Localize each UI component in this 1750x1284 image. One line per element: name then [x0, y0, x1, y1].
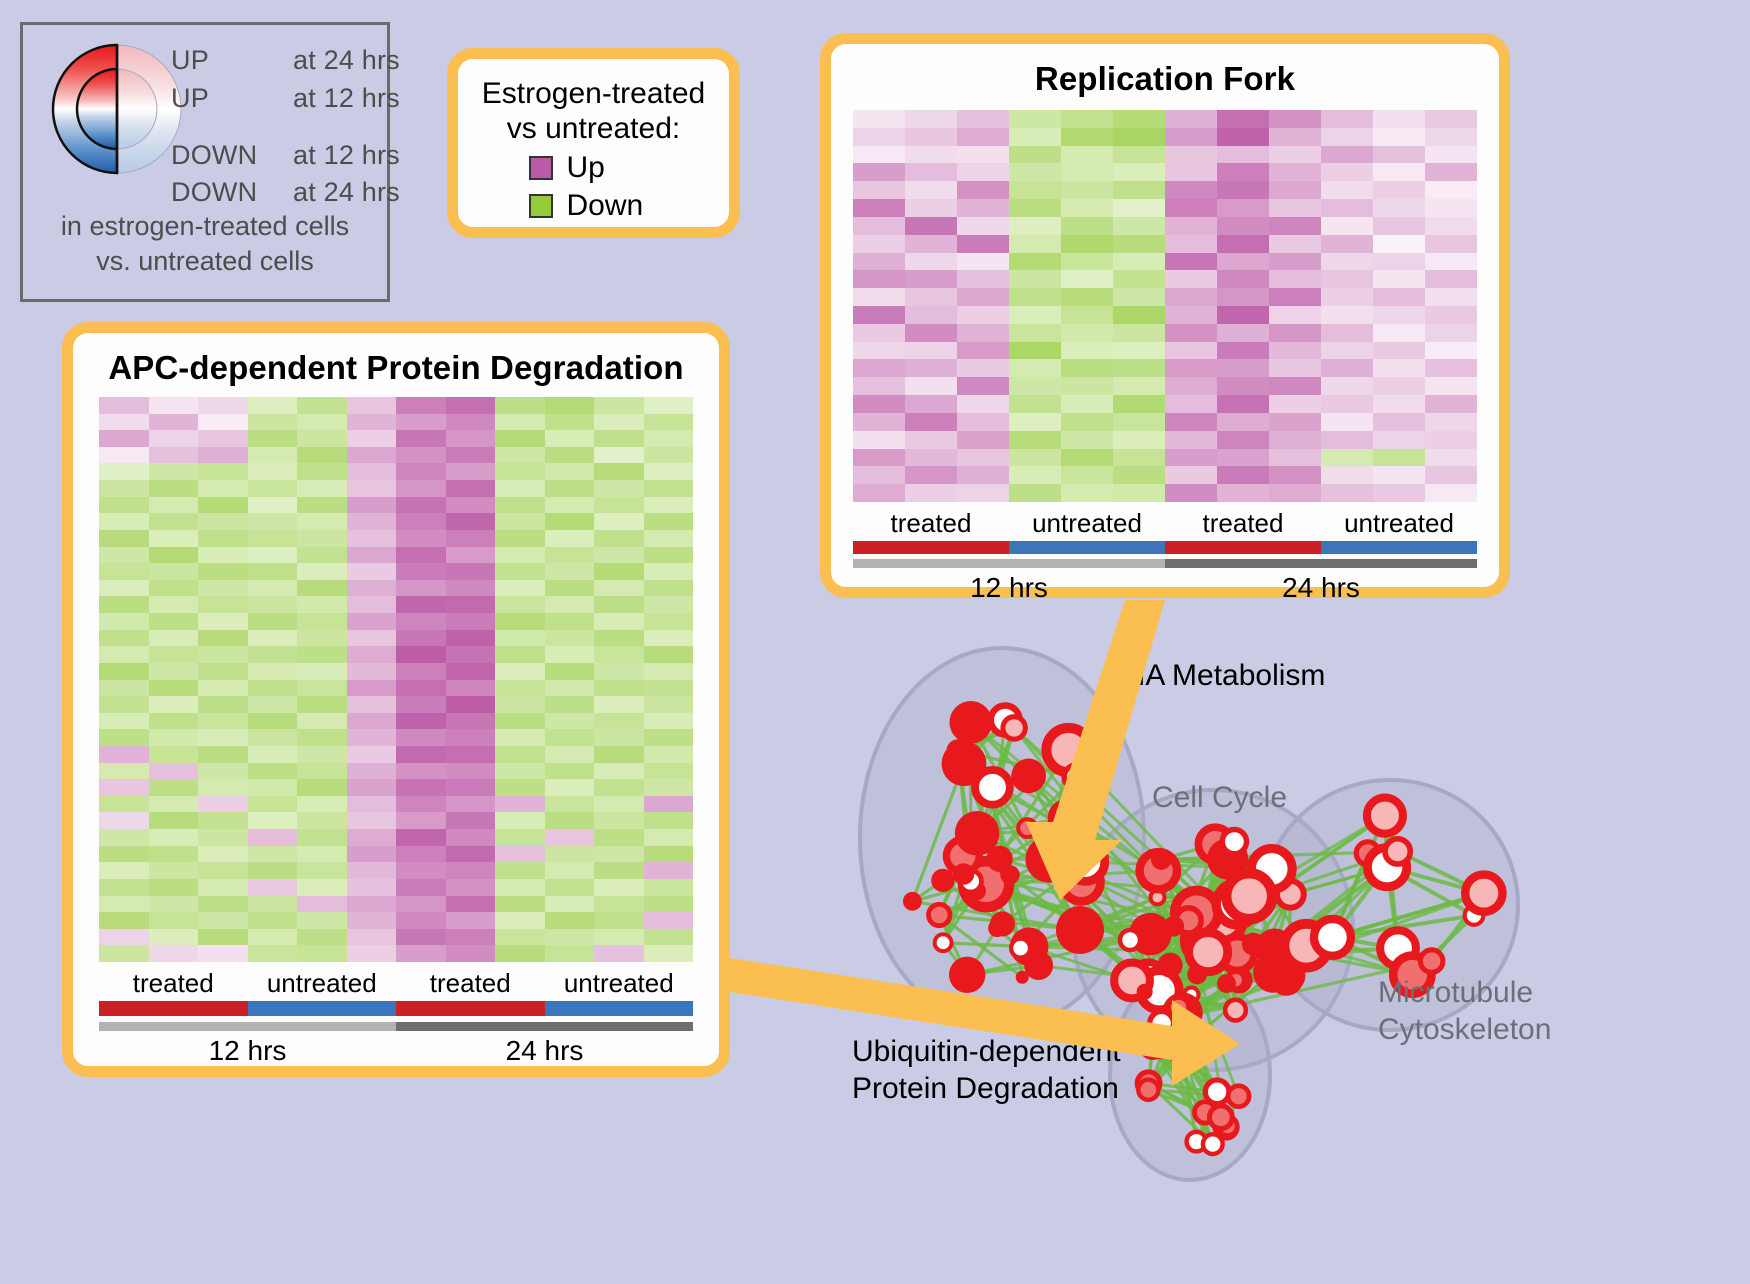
heatmap-cell	[594, 580, 644, 597]
heatmap-cell	[1061, 146, 1113, 164]
heatmap-cell	[347, 596, 397, 613]
heatmap-cell	[1165, 342, 1217, 360]
heatmap-cell	[545, 779, 595, 796]
heatmap-cell	[347, 397, 397, 414]
heatmap-cell	[1217, 413, 1269, 431]
heatmap-cell	[396, 430, 446, 447]
heatmap-cell	[99, 663, 149, 680]
network-node	[1465, 875, 1502, 912]
heatmap-cell	[594, 680, 644, 697]
heatmap-cell	[446, 547, 496, 564]
heatmap-cell	[248, 430, 298, 447]
heatmap-cell	[347, 846, 397, 863]
down-label: Down	[567, 189, 659, 223]
heatmap-cell	[1113, 217, 1165, 235]
heatmap-cell	[1269, 110, 1321, 128]
heatmap-cell	[198, 663, 248, 680]
heatmap-cell	[495, 829, 545, 846]
heatmap-cell	[248, 397, 298, 414]
cluster-label-cell-cycle: Cell Cycle	[1152, 780, 1287, 817]
heatmap-cell	[1217, 466, 1269, 484]
heatmap-cell	[1321, 235, 1373, 253]
heatmap-cell	[198, 480, 248, 497]
heatmap-cell	[1373, 253, 1425, 271]
heatmap-cell	[495, 596, 545, 613]
heatmap-cell	[1425, 235, 1477, 253]
heatmap-cell	[347, 480, 397, 497]
heatmap-cell	[248, 613, 298, 630]
heatmap-cell	[297, 680, 347, 697]
heatmap-cell	[347, 713, 397, 730]
heatmap-cell	[297, 945, 347, 962]
apc-annotation: treateduntreatedtreateduntreated 12 hrs2…	[99, 968, 693, 1067]
heatmap-cell	[396, 663, 446, 680]
heatmap-cell	[396, 796, 446, 813]
heatmap-cell	[396, 929, 446, 946]
heatmap-cell	[1009, 359, 1061, 377]
heatmap-cell	[446, 696, 496, 713]
heatmap-cell	[1165, 306, 1217, 324]
heatmap-cell	[545, 663, 595, 680]
heatmap-cell	[905, 128, 957, 146]
heatmap-cell	[545, 763, 595, 780]
heatmap-cell	[347, 729, 397, 746]
heatmap-cell	[347, 530, 397, 547]
heatmap-cell	[644, 846, 694, 863]
heatmap-cell	[545, 463, 595, 480]
wheel-caption: in estrogen-treated cells vs. untreated …	[23, 209, 387, 278]
heatmap-cell	[1061, 377, 1113, 395]
heatmap-cell	[1321, 395, 1373, 413]
heatmap-cell	[1009, 466, 1061, 484]
heatmap-cell	[297, 530, 347, 547]
network-node	[1011, 759, 1046, 794]
heatmap-cell	[149, 896, 199, 913]
heatmap-cell	[1009, 413, 1061, 431]
heatmap-cell	[1425, 377, 1477, 395]
heatmap-cell	[149, 713, 199, 730]
heatmap-cell	[149, 397, 199, 414]
heatmap-cell	[905, 146, 957, 164]
heatmap-cell	[347, 812, 397, 829]
heatmap-cell	[545, 497, 595, 514]
heatmap-cell	[198, 430, 248, 447]
heatmap-cell	[99, 796, 149, 813]
heatmap-cell	[1425, 466, 1477, 484]
heatmap-cell	[297, 480, 347, 497]
heatmap-cell	[99, 596, 149, 613]
heatmap-cell	[1321, 466, 1373, 484]
heatmap-cell	[1373, 217, 1425, 235]
apc-sample-labels: treateduntreatedtreateduntreated	[99, 968, 693, 999]
heatmap-cell	[198, 447, 248, 464]
heatmap-cell	[1061, 466, 1113, 484]
heatmap-cell	[1321, 342, 1373, 360]
heatmap-cell	[198, 613, 248, 630]
network-node	[1189, 933, 1228, 972]
heatmap-cell	[446, 896, 496, 913]
heatmap-cell	[1321, 199, 1373, 217]
heatmap-cell	[545, 480, 595, 497]
heatmap-cell	[149, 763, 199, 780]
heatmap-cell	[1425, 306, 1477, 324]
colour-wheel-legend: UP at 24 hrs UP at 12 hrs DOWN at 12 hrs…	[20, 22, 390, 302]
network-node	[1048, 799, 1085, 836]
rf-sample-bar	[853, 541, 1477, 554]
network-node	[1011, 939, 1030, 958]
wheel-row-2-label: DOWN	[171, 140, 257, 171]
heatmap-cell	[149, 596, 199, 613]
heatmap-cell	[248, 829, 298, 846]
time-group-label: 12 hrs	[99, 1035, 396, 1067]
heatmap-cell	[149, 414, 199, 431]
heatmap-cell	[594, 414, 644, 431]
heatmap-cell	[1269, 377, 1321, 395]
heatmap-cell	[396, 696, 446, 713]
heatmap-cell	[297, 430, 347, 447]
heatmap-cell	[347, 580, 397, 597]
heatmap-cell	[1113, 270, 1165, 288]
up-label: Up	[567, 151, 659, 185]
heatmap-cell	[1061, 342, 1113, 360]
heatmap-cell	[1373, 110, 1425, 128]
heatmap-cell	[248, 447, 298, 464]
heatmap-cell	[149, 945, 199, 962]
heatmap-cell	[248, 796, 298, 813]
heatmap-cell	[545, 846, 595, 863]
heatmap-cell	[1321, 484, 1373, 502]
heatmap-cell	[1113, 342, 1165, 360]
heatmap-cell	[1061, 253, 1113, 271]
heatmap-cell	[495, 796, 545, 813]
heatmap-cell	[198, 596, 248, 613]
heatmap-cell	[644, 480, 694, 497]
heatmap-cell	[1113, 199, 1165, 217]
heatmap-cell	[248, 912, 298, 929]
heatmap-cell	[149, 630, 199, 647]
apc-heatmap	[99, 397, 693, 962]
heatmap-cell	[1425, 359, 1477, 377]
heatmap-cell	[396, 497, 446, 514]
key-line-2: vs untreated:	[458, 112, 729, 147]
network-node	[931, 869, 954, 892]
heatmap-cell	[957, 163, 1009, 181]
heatmap-cell	[644, 812, 694, 829]
heatmap-cell	[396, 812, 446, 829]
heatmap-cell	[446, 447, 496, 464]
heatmap-cell	[495, 530, 545, 547]
time-group-bar	[99, 1022, 396, 1031]
heatmap-cell	[1373, 359, 1425, 377]
heatmap-cell	[1321, 324, 1373, 342]
heatmap-cell	[1425, 217, 1477, 235]
heatmap-cell	[347, 862, 397, 879]
heatmap-cell	[905, 324, 957, 342]
time-group-bar	[1165, 559, 1477, 568]
heatmap-cell	[297, 613, 347, 630]
heatmap-cell	[1113, 466, 1165, 484]
heatmap-cell	[347, 912, 397, 929]
sample-group-bar	[545, 1001, 694, 1016]
heatmap-cell	[248, 547, 298, 564]
heatmap-cell	[446, 796, 496, 813]
heatmap-cell	[1009, 449, 1061, 467]
replication-fork-title: Replication Fork	[831, 60, 1499, 98]
heatmap-cell	[853, 449, 905, 467]
heatmap-cell	[495, 397, 545, 414]
heatmap-cell	[347, 414, 397, 431]
heatmap-cell	[99, 713, 149, 730]
heatmap-cell	[594, 646, 644, 663]
heatmap-cell	[957, 146, 1009, 164]
heatmap-cell	[1009, 110, 1061, 128]
heatmap-cell	[198, 796, 248, 813]
sample-group-label: treated	[99, 968, 248, 999]
heatmap-cell	[1113, 128, 1165, 146]
heatmap-cell	[957, 324, 1009, 342]
heatmap-cell	[594, 779, 644, 796]
heatmap-cell	[1165, 413, 1217, 431]
heatmap-cell	[545, 796, 595, 813]
heatmap-cell	[853, 181, 905, 199]
heatmap-cell	[594, 763, 644, 780]
heatmap-cell	[495, 729, 545, 746]
heatmap-cell	[1269, 359, 1321, 377]
heatmap-cell	[297, 746, 347, 763]
heatmap-cell	[495, 547, 545, 564]
heatmap-cell	[99, 929, 149, 946]
heatmap-cell	[1061, 413, 1113, 431]
wheel-row-1-time: at 12 hrs	[293, 83, 400, 114]
heatmap-cell	[396, 646, 446, 663]
heatmap-cell	[644, 397, 694, 414]
heatmap-cell	[1321, 181, 1373, 199]
heatmap-cell	[99, 729, 149, 746]
heatmap-cell	[957, 431, 1009, 449]
heatmap-cell	[594, 945, 644, 962]
heatmap-cell	[396, 763, 446, 780]
heatmap-cell	[1373, 466, 1425, 484]
heatmap-cell	[1373, 342, 1425, 360]
heatmap-cell	[149, 580, 199, 597]
heatmap-cell	[1373, 288, 1425, 306]
network-node	[949, 701, 992, 744]
heatmap-cell	[545, 646, 595, 663]
heatmap-cell	[1269, 413, 1321, 431]
heatmap-cell	[644, 613, 694, 630]
sample-group-bar	[396, 1001, 545, 1016]
heatmap-cell	[545, 879, 595, 896]
apc-sample-bar	[99, 1001, 693, 1016]
heatmap-cell	[905, 110, 957, 128]
heatmap-cell	[1425, 181, 1477, 199]
heatmap-cell	[347, 779, 397, 796]
heatmap-cell	[446, 513, 496, 530]
heatmap-cell	[1061, 181, 1113, 199]
heatmap-cell	[957, 377, 1009, 395]
sample-group-bar	[1321, 541, 1477, 554]
heatmap-cell	[99, 696, 149, 713]
heatmap-cell	[1009, 217, 1061, 235]
network-node	[1137, 984, 1153, 1000]
heatmap-cell	[1217, 163, 1269, 181]
heatmap-cell	[644, 414, 694, 431]
heatmap-cell	[644, 796, 694, 813]
heatmap-cell	[396, 580, 446, 597]
time-group-label: 24 hrs	[396, 1035, 693, 1067]
heatmap-cell	[297, 779, 347, 796]
heatmap-cell	[1009, 128, 1061, 146]
heatmap-cell	[1217, 484, 1269, 502]
sample-group-label: untreated	[248, 968, 397, 999]
heatmap-cell	[1113, 484, 1165, 502]
heatmap-cell	[248, 480, 298, 497]
heatmap-cell	[297, 497, 347, 514]
heatmap-cell	[347, 746, 397, 763]
heatmap-cell	[644, 829, 694, 846]
sample-group-bar	[1009, 541, 1165, 554]
heatmap-cell	[545, 563, 595, 580]
heatmap-cell	[1061, 359, 1113, 377]
rf-time-bar	[853, 559, 1477, 568]
heatmap-cell	[495, 463, 545, 480]
heatmap-cell	[446, 414, 496, 431]
apc-time-labels: 12 hrs24 hrs	[99, 1035, 693, 1067]
heatmap-cell	[396, 680, 446, 697]
heatmap-cell	[446, 596, 496, 613]
heatmap-cell	[198, 414, 248, 431]
heatmap-cell	[594, 613, 644, 630]
wheel-row-0-label: UP	[171, 45, 209, 76]
heatmap-cell	[853, 128, 905, 146]
heatmap-cell	[446, 630, 496, 647]
heatmap-cell	[347, 547, 397, 564]
heatmap-cell	[853, 110, 905, 128]
heatmap-cell	[347, 896, 397, 913]
heatmap-cell	[1165, 288, 1217, 306]
heatmap-cell	[347, 646, 397, 663]
network-node	[903, 892, 922, 911]
heatmap-cell	[248, 713, 298, 730]
heatmap-cell	[853, 306, 905, 324]
network-node	[1142, 1037, 1163, 1058]
heatmap-cell	[198, 912, 248, 929]
heatmap-cell	[545, 945, 595, 962]
heatmap-cell	[1009, 235, 1061, 253]
heatmap-cell	[149, 663, 199, 680]
heatmap-cell	[248, 630, 298, 647]
cluster-label-ubiquitin-1: Ubiquitin-dependent	[852, 1034, 1121, 1071]
wheel-row-1-label: UP	[171, 83, 209, 114]
heatmap-cell	[853, 395, 905, 413]
network-node	[1367, 798, 1403, 834]
heatmap-cell	[1217, 253, 1269, 271]
network-node	[1151, 849, 1172, 870]
heatmap-cell	[198, 713, 248, 730]
heatmap-cell	[1425, 128, 1477, 146]
heatmap-cell	[1373, 324, 1425, 342]
network-node	[949, 957, 985, 993]
network-node	[929, 904, 950, 925]
wheel-row-2-time: at 12 hrs	[293, 140, 400, 171]
heatmap-cell	[99, 862, 149, 879]
cluster-label-microtubule-2: Cytoskeleton	[1378, 1012, 1551, 1049]
heatmap-cell	[1373, 181, 1425, 199]
heatmap-cell	[905, 288, 957, 306]
network-node	[1217, 974, 1236, 993]
heatmap-cell	[1009, 342, 1061, 360]
heatmap-cell	[905, 413, 957, 431]
network-node	[942, 741, 987, 786]
heatmap-cell	[495, 513, 545, 530]
heatmap-cell	[594, 796, 644, 813]
heatmap-cell	[1425, 163, 1477, 181]
heatmap-cell	[248, 896, 298, 913]
heatmap-cell	[446, 812, 496, 829]
sample-group-bar	[853, 541, 1009, 554]
heatmap-cell	[198, 696, 248, 713]
heatmap-cell	[1269, 163, 1321, 181]
heatmap-cell	[853, 359, 905, 377]
heatmap-cell	[248, 729, 298, 746]
heatmap-cell	[957, 413, 1009, 431]
heatmap-cell	[446, 563, 496, 580]
heatmap-cell	[1321, 110, 1373, 128]
heatmap-cell	[149, 812, 199, 829]
heatmap-cell	[1269, 484, 1321, 502]
heatmap-cell	[1009, 288, 1061, 306]
heatmap-cell	[99, 646, 149, 663]
heatmap-cell	[149, 547, 199, 564]
heatmap-cell	[853, 342, 905, 360]
heatmap-cell	[396, 463, 446, 480]
heatmap-cell	[99, 630, 149, 647]
heatmap-cell	[1373, 377, 1425, 395]
heatmap-cell	[149, 447, 199, 464]
heatmap-cell	[594, 696, 644, 713]
heatmap-cell	[297, 547, 347, 564]
heatmap-cell	[347, 680, 397, 697]
heatmap-cell	[1373, 395, 1425, 413]
network-node	[1242, 933, 1265, 956]
heatmap-cell	[1321, 163, 1373, 181]
heatmap-cell	[495, 912, 545, 929]
heatmap-cell	[446, 945, 496, 962]
heatmap-cell	[1321, 431, 1373, 449]
heatmap-cell	[1269, 306, 1321, 324]
heatmap-cell	[1061, 324, 1113, 342]
heatmap-cell	[545, 829, 595, 846]
heatmap-cell	[446, 480, 496, 497]
network-node	[1169, 998, 1189, 1018]
heatmap-cell	[1165, 128, 1217, 146]
heatmap-cell	[957, 253, 1009, 271]
heatmap-cell	[1425, 253, 1477, 271]
heatmap-cell	[853, 484, 905, 502]
network-node	[1172, 1043, 1194, 1065]
heatmap-cell	[1113, 146, 1165, 164]
heatmap-cell	[1061, 288, 1113, 306]
heatmap-cell	[347, 630, 397, 647]
heatmap-cell	[957, 342, 1009, 360]
cluster-label-dna-metabolism: DNA Metabolism	[1102, 658, 1325, 695]
heatmap-cell	[297, 879, 347, 896]
heatmap-cell	[957, 288, 1009, 306]
heatmap-cell	[347, 613, 397, 630]
heatmap-cell	[149, 563, 199, 580]
heatmap-cell	[1113, 413, 1165, 431]
heatmap-cell	[149, 480, 199, 497]
